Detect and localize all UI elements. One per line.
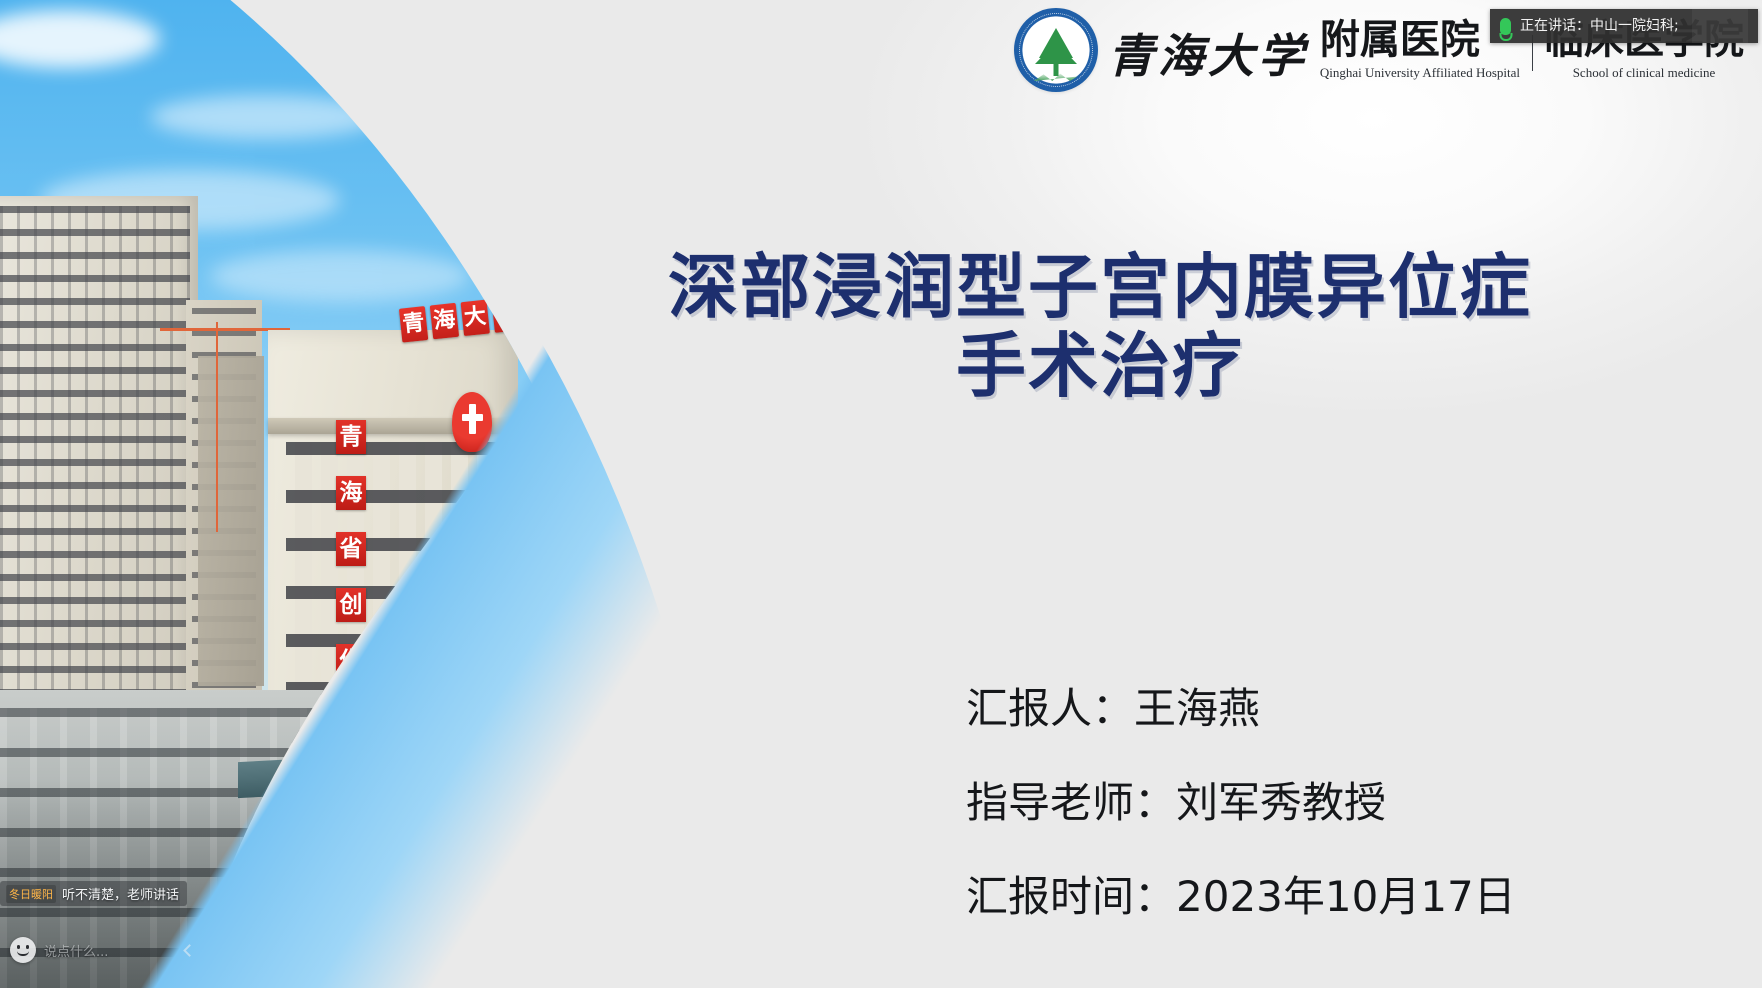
pine-tree-seal-icon [1014,8,1098,92]
chevron-icon[interactable] [183,944,196,957]
active-speaker-banner[interactable]: 正在讲话：中山一院妇科; [1490,9,1758,43]
banner-overflow-area [1692,9,1748,43]
chat-username: 冬日暖阳 [6,885,56,903]
facade-sign-char: 创 [336,588,366,622]
rooftop-sign-char: 附 [522,293,551,330]
brand-unit-en: School of clinical medicine [1544,65,1744,81]
chat-overlay: 冬日暖阳 听不清楚，老师讲话 [0,881,232,906]
facade-sign-char: 青 [336,420,366,454]
cloud-shape [330,40,480,78]
cloud-shape [150,95,380,139]
medical-cross-icon [452,392,492,452]
pine-tree-trunk [1053,62,1058,76]
brand-unit-en: Qinghai University Affiliated Hospital [1320,65,1520,81]
chat-input[interactable]: 说点什么... [44,941,108,960]
rooftop-sign-char: 学 [491,296,520,333]
slide-title-line-2: 手术治疗 [600,327,1600,406]
slide-meta-block: 汇报人：王海燕 指导老师：刘军秀教授 汇报时间：2023年10月17日 [966,688,1516,918]
pine-tree-bottom [1035,42,1077,64]
microphone-icon [1500,18,1511,35]
smiley-eye [26,945,29,949]
construction-crane [216,322,218,532]
construction-tower [198,356,264,686]
chat-message: 冬日暖阳 听不清楚，老师讲话 [0,881,187,906]
chat-message-text: 听不清楚，老师讲话 [62,884,179,903]
cloud-shape [420,150,620,196]
smiley-eye [17,945,20,949]
facade-sign-char: 海 [336,476,366,510]
cloud-shape [210,250,470,302]
university-name: 青海大学 [1108,19,1308,79]
meta-date: 汇报时间：2023年10月17日 [966,876,1516,918]
chat-input-row[interactable]: 说点什么... [0,930,200,970]
cloud-shape [0,10,160,68]
slide-title-line-1: 深部浸润型子宫内膜异位症 [600,248,1600,327]
screen-capture-stage: 青海大学附属医院 青海省创伤 [0,0,1762,988]
smiley-face-icon[interactable] [10,937,36,963]
rooftop-sign-char: 大 [461,300,490,337]
facade-sign-char: 省 [336,532,366,566]
rooftop-sign-char: 青 [399,306,428,343]
smiley-mouth [17,951,29,956]
meta-presenter: 汇报人：王海燕 [966,688,1516,730]
rooftop-sign-char: 海 [430,303,459,340]
active-speaker-label: 正在讲话：中山一院妇科; [1520,9,1679,43]
meta-advisor: 指导老师：刘军秀教授 [966,782,1516,824]
slide-title: 深部浸润型子宫内膜异位症 手术治疗 [600,248,1600,406]
